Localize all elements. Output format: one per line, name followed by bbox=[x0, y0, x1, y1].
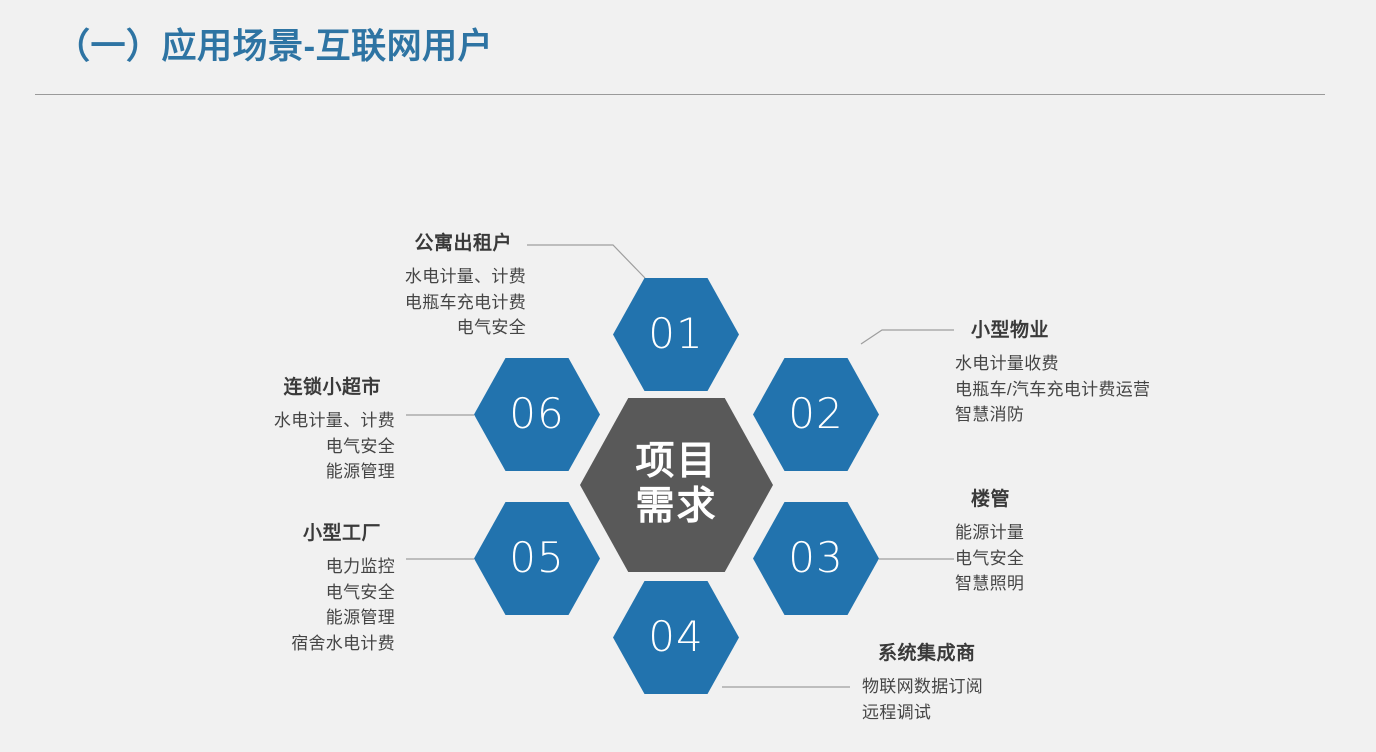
hexagon-03[interactable]: 03 bbox=[753, 502, 879, 615]
callout-item: 水电计量收费 bbox=[955, 351, 1355, 377]
callout-item: 能源管理 bbox=[120, 459, 395, 485]
callout-item: 电气安全 bbox=[186, 315, 526, 341]
callout-title-04: 系统集成商 bbox=[862, 638, 1182, 665]
hexagon-01[interactable]: 01 bbox=[613, 278, 739, 391]
callout-item: 智慧消防 bbox=[955, 402, 1355, 428]
callout-title-05: 小型工厂 bbox=[120, 518, 395, 545]
hexagon-05[interactable]: 05 bbox=[474, 502, 600, 615]
center-label-line2: 需求 bbox=[635, 485, 717, 530]
hexagon-02[interactable]: 02 bbox=[753, 358, 879, 471]
callout-item: 电瓶车充电计费 bbox=[186, 290, 526, 316]
callout-item: 电力监控 bbox=[120, 554, 395, 580]
center-label: 项目 需求 bbox=[635, 440, 717, 530]
callout-03: 楼管 能源计量 电气安全 智慧照明 bbox=[955, 484, 1255, 597]
callout-item: 电瓶车/汽车充电计费运营 bbox=[955, 377, 1355, 403]
leader-line-01 bbox=[527, 245, 645, 278]
callout-item: 电气安全 bbox=[955, 546, 1255, 572]
hexagon-number-03: 03 bbox=[788, 537, 843, 579]
callout-title-06: 连锁小超市 bbox=[120, 372, 395, 399]
callout-item: 远程调试 bbox=[862, 700, 1182, 726]
callout-title-03: 楼管 bbox=[955, 484, 1255, 511]
hexagon-number-06: 06 bbox=[509, 393, 564, 435]
callout-item: 电气安全 bbox=[120, 580, 395, 606]
callout-06: 连锁小超市 水电计量、计费 电气安全 能源管理 bbox=[120, 372, 395, 485]
leader-line-02 bbox=[861, 330, 954, 344]
callout-item: 智慧照明 bbox=[955, 571, 1255, 597]
callout-02: 小型物业 水电计量收费 电瓶车/汽车充电计费运营 智慧消防 bbox=[955, 315, 1355, 428]
hexagon-number-02: 02 bbox=[788, 393, 843, 435]
callout-05: 小型工厂 电力监控 电气安全 能源管理 宿舍水电计费 bbox=[120, 518, 395, 656]
callout-item: 能源计量 bbox=[955, 520, 1255, 546]
callout-item: 宿舍水电计费 bbox=[120, 631, 395, 657]
hexagon-06[interactable]: 06 bbox=[474, 358, 600, 471]
hexagon-number-01: 01 bbox=[648, 313, 703, 355]
callout-04: 系统集成商 物联网数据订阅 远程调试 bbox=[862, 638, 1182, 725]
callout-item: 水电计量、计费 bbox=[186, 264, 526, 290]
slide-canvas: （一）应用场景-互联网用户 01 02 03 04 bbox=[0, 0, 1376, 752]
callout-01: 公寓出租户 水电计量、计费 电瓶车充电计费 电气安全 bbox=[186, 228, 526, 341]
hexagon-number-04: 04 bbox=[648, 616, 703, 658]
hexagon-04[interactable]: 04 bbox=[613, 581, 739, 694]
hexagon-center: 项目 需求 bbox=[580, 398, 773, 572]
callout-title-01: 公寓出租户 bbox=[186, 228, 526, 255]
hexagon-number-05: 05 bbox=[509, 537, 564, 579]
callout-title-02: 小型物业 bbox=[955, 315, 1355, 342]
callout-item: 能源管理 bbox=[120, 605, 395, 631]
hexagon-diagram: 01 02 03 04 05 06 项目 需求 公寓出租户 水电计量、计费 电瓶… bbox=[0, 0, 1376, 752]
callout-item: 水电计量、计费 bbox=[120, 408, 395, 434]
callout-item: 电气安全 bbox=[120, 434, 395, 460]
callout-item: 物联网数据订阅 bbox=[862, 674, 1182, 700]
center-label-line1: 项目 bbox=[635, 440, 717, 485]
